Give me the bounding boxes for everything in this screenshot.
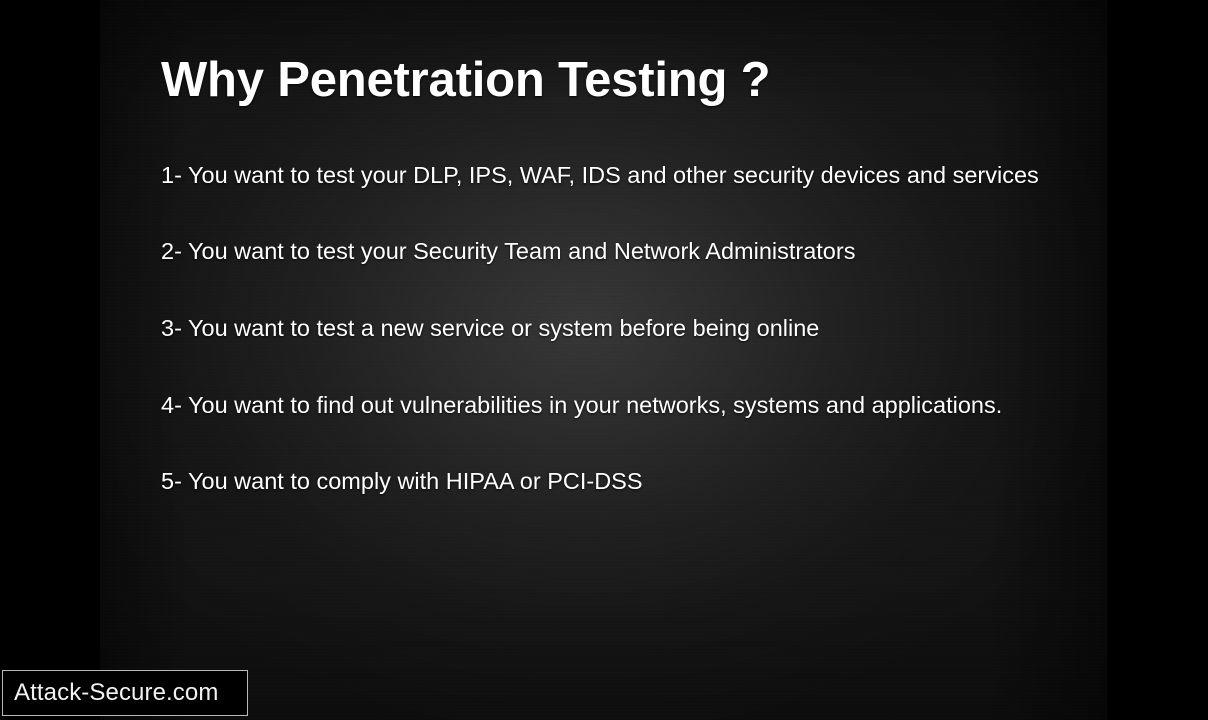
bullet-item-4: 4- You want to find out vulnerabilities … [161,390,1041,421]
presentation-slide-frame: Why Penetration Testing ? 1- You want to… [0,0,1208,720]
bullet-item-1: 1- You want to test your DLP, IPS, WAF, … [161,160,1041,191]
bullet-item-2: 2- You want to test your Security Team a… [161,236,1041,267]
slide-content: Why Penetration Testing ? 1- You want to… [100,0,1107,720]
watermark-label: Attack-Secure.com [3,679,218,707]
slide-title: Why Penetration Testing ? [161,52,770,108]
watermark-badge: Attack-Secure.com [2,670,248,716]
bullet-list: 1- You want to test your DLP, IPS, WAF, … [161,160,1041,497]
letterbox-band-left [0,0,100,720]
letterbox-band-right [1107,0,1208,720]
bullet-item-5: 5- You want to comply with HIPAA or PCI-… [161,466,1041,497]
slide-canvas: Why Penetration Testing ? 1- You want to… [100,0,1107,720]
bullet-item-3: 3- You want to test a new service or sys… [161,313,1041,344]
